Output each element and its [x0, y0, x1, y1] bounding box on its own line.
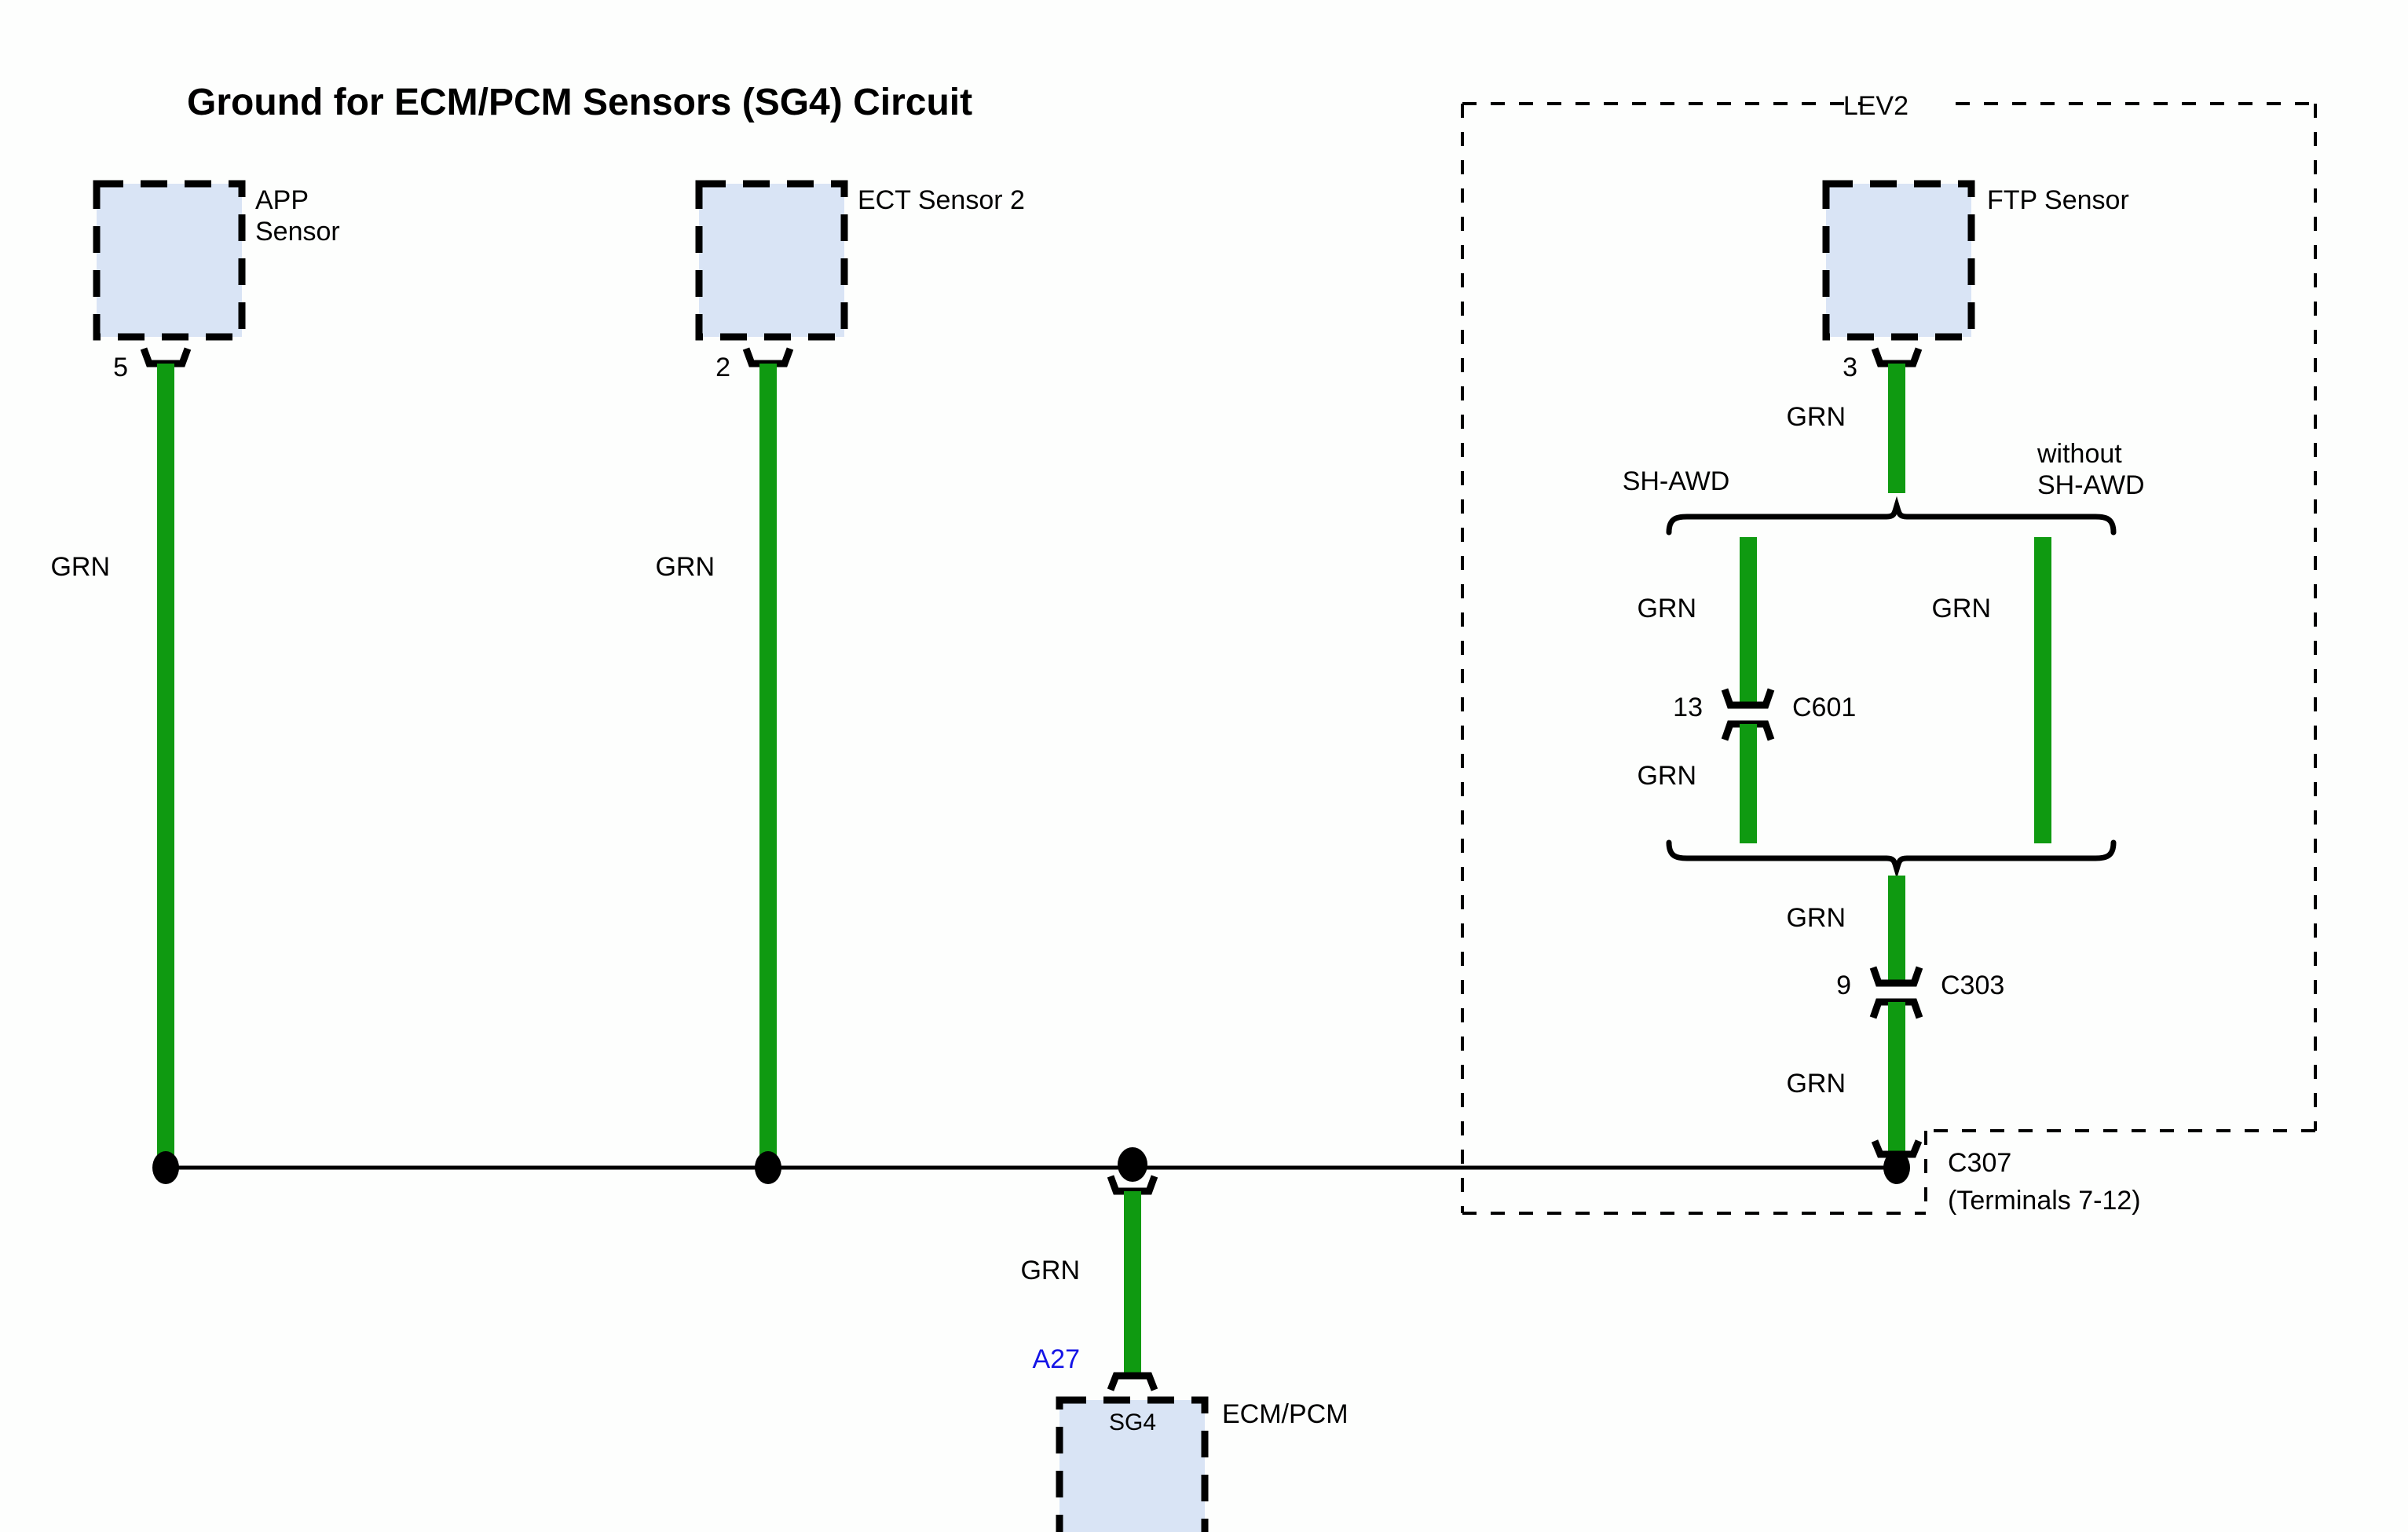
app-sensor-label-line1: APP	[255, 185, 309, 215]
c303-terminal-label: 9	[1836, 971, 1851, 1000]
shawd-merge-brace-bottom	[1669, 843, 2113, 869]
junction-dot-ecm	[1118, 1147, 1147, 1182]
circuit-diagram-svg: Ground for ECM/PCM Sensors (SG4) Circuit…	[0, 0, 2408, 1532]
branch-brace-bottom-path	[1669, 843, 2113, 869]
c307-group[interactable]: C307 (Terminals 7-12)	[1875, 1141, 2141, 1216]
ftp-sensor-pin-label: 3	[1843, 353, 1857, 382]
c307-name-label: C307	[1948, 1148, 2011, 1178]
ftp-wire-color-label: GRN	[1786, 402, 1846, 432]
ect-sensor-2-pin-label: 2	[715, 353, 730, 382]
c307-junction-dot	[1883, 1151, 1910, 1184]
branch-brace-top-path	[1669, 506, 2113, 532]
ecm-pcm-pin-label: A27	[1033, 1344, 1081, 1374]
app-sensor-pin-label: 5	[113, 353, 128, 382]
c307-terminals-label: (Terminals 7-12)	[1948, 1186, 2141, 1216]
ect-sensor-2-box[interactable]	[699, 184, 844, 337]
c303-trunk-group[interactable]: GRN 9 C303 GRN	[1786, 876, 2004, 1151]
page-title: Ground for ECM/PCM Sensors (SG4) Circuit	[187, 82, 972, 123]
ecm-wire-color-label: GRN	[1020, 1256, 1080, 1285]
c601-terminal-label: 13	[1673, 693, 1703, 722]
app-sensor-group[interactable]: APP Sensor 5 GRN	[50, 184, 339, 1168]
ect-sensor-2-connector-icon	[746, 349, 790, 364]
lev2-label: LEV2	[1843, 91, 1908, 121]
ect-sensor-2-label: ECT Sensor 2	[858, 185, 1025, 215]
app-sensor-box[interactable]	[97, 184, 242, 337]
shawd-split-brace-top: SH-AWD without SH-AWD	[1623, 439, 2145, 532]
c303-name-label: C303	[1941, 971, 2004, 1000]
app-sensor-label-line2: Sensor	[255, 217, 340, 247]
app-sensor-connector-icon	[144, 349, 188, 364]
junction-dot-app	[152, 1151, 179, 1184]
ect-sensor-2-group[interactable]: ECT Sensor 2 2 GRN	[655, 184, 1024, 1168]
ftp-sensor-label: FTP Sensor	[1987, 185, 2129, 215]
ecm-pcm-connector-icon	[1111, 1376, 1155, 1390]
ftp-sensor-connector-icon	[1875, 349, 1919, 364]
ecm-pcm-label: ECM/PCM	[1222, 1399, 1349, 1429]
without-shawd-branch-group[interactable]: GRN	[1931, 537, 2043, 843]
branch-label-without-shawd-line2: SH-AWD	[2037, 470, 2145, 500]
junction-dot-ect	[755, 1151, 781, 1184]
shawd-branch-group[interactable]: GRN 13 C601 GRN	[1637, 537, 1856, 843]
ect-wire-color-label: GRN	[655, 552, 715, 582]
ecm-pcm-inner-pin-label: SG4	[1109, 1410, 1156, 1435]
ftp-sensor-box[interactable]	[1826, 184, 1971, 337]
shawd-upper-wire-color-label: GRN	[1637, 594, 1696, 623]
c303-upper-wire-color-label: GRN	[1786, 903, 1846, 933]
shawd-lower-wire-color-label: GRN	[1637, 761, 1696, 791]
without-shawd-wire-color-label: GRN	[1931, 594, 1991, 623]
ecm-pcm-group[interactable]: GRN A27 SG4 ECM/PCM	[1020, 1176, 1348, 1532]
app-wire-color-label: GRN	[50, 552, 110, 582]
wiring-diagram-canvas: Ground for ECM/PCM Sensors (SG4) Circuit…	[0, 0, 2408, 1532]
c303-lower-wire-color-label: GRN	[1786, 1069, 1846, 1099]
branch-label-with-shawd: SH-AWD	[1623, 466, 1730, 496]
c601-name-label: C601	[1792, 693, 1856, 722]
branch-label-without-shawd-line1: without	[2037, 439, 2122, 469]
